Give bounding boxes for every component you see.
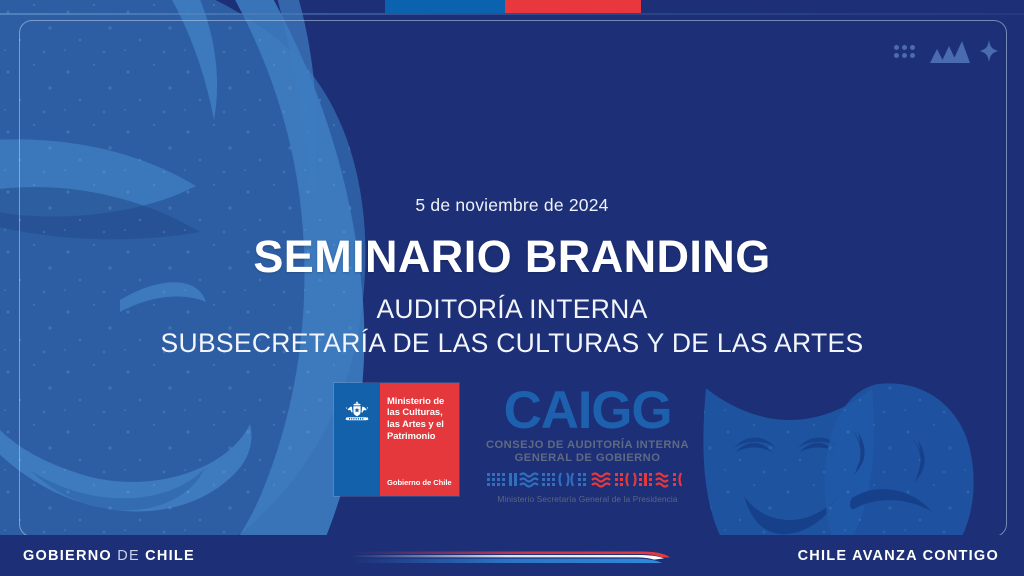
presentation-slide: 5 de noviembre de 2024 SEMINARIO BRANDIN… [0, 0, 1024, 576]
caigg-wordmark: CAIGG [485, 384, 690, 437]
chile-avanza-contigo-label: CHILE AVANZA CONTIGO [798, 548, 999, 564]
ministerio-de-las-culturas-logo: Ministerio de las Culturas, las Artes y … [334, 383, 459, 496]
ministry-text-line-2: las Culturas, [387, 406, 455, 418]
ministry-logo-footer: Gobierno de Chile [387, 478, 452, 487]
ministry-logo-text: Ministerio de las Culturas, las Artes y … [387, 395, 455, 442]
subtitle-line-1: AUDITORÍA INTERNA [376, 296, 647, 323]
caigg-footer: Ministerio Secretaría General de la Pres… [485, 495, 690, 503]
footer-left-bold: GOBIERNO [23, 548, 112, 564]
slide-footer-bar: GOBIERNO DE CHILE [0, 535, 1024, 576]
caigg-tagline-line-2: GENERAL DE GOBIERNO [485, 452, 690, 466]
page-title: SEMINARIO BRANDING [253, 234, 770, 279]
footer-left-bold2: CHILE [145, 548, 195, 564]
caigg-tagline-line-1: CONSEJO DE AUDITORÍA INTERNA [485, 439, 690, 453]
caigg-pattern-bar [485, 471, 690, 492]
ministry-text-line-1: Ministerio de [387, 395, 455, 407]
caigg-logo: CAIGG CONSEJO DE AUDITORÍA INTERNA GENER… [485, 382, 690, 497]
event-date: 5 de noviembre de 2024 [415, 197, 608, 215]
subtitle-line-2: SUBSECRETARÍA DE LAS CULTURAS Y DE LAS A… [161, 330, 864, 357]
ministry-logo-red-panel: Ministerio de las Culturas, las Artes y … [380, 383, 459, 496]
ministry-logo-blue-panel [334, 383, 380, 496]
logo-row: Ministerio de las Culturas, las Artes y … [334, 382, 690, 497]
footer-left-light: DE [117, 548, 140, 564]
chile-flag-ribbon-icon [350, 546, 680, 570]
slide-content: 5 de noviembre de 2024 SEMINARIO BRANDIN… [0, 0, 1024, 576]
ministry-text-line-3: las Artes y el [387, 418, 455, 430]
gobierno-de-chile-label: GOBIERNO DE CHILE [23, 548, 195, 564]
ministry-text-line-4: Patrimonio [387, 430, 455, 442]
chile-coat-of-arms-icon [342, 400, 372, 430]
